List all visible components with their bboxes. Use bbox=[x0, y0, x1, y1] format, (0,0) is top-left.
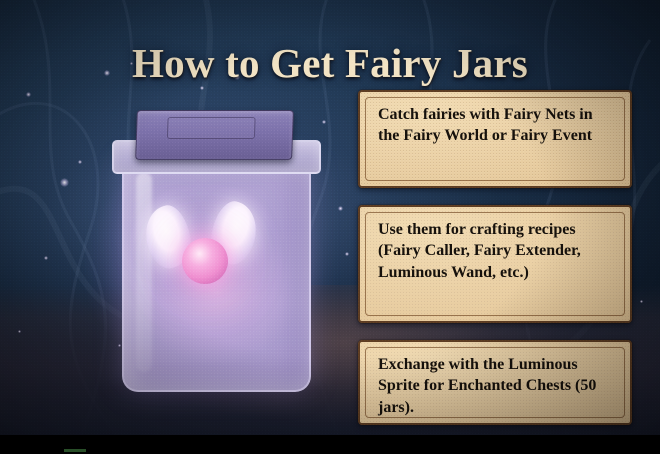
info-panel-crafting-recipes: Use them for crafting recipes (Fairy Cal… bbox=[358, 205, 632, 323]
fairy-orb bbox=[182, 238, 228, 284]
bottom-green-indicator bbox=[64, 449, 86, 452]
bottom-letterbox-bar bbox=[0, 435, 660, 454]
fairy-jar-illustration bbox=[78, 98, 328, 398]
info-panel-text: Exchange with the Luminous Sprite for En… bbox=[370, 351, 620, 418]
info-panel-text: Use them for crafting recipes (Fairy Cal… bbox=[370, 216, 620, 283]
info-panel-catch-fairies: Catch fairies with Fairy Nets in the Fai… bbox=[358, 90, 632, 188]
jar-lid-detail bbox=[167, 117, 256, 139]
page-title: How to Get Fairy Jars bbox=[0, 41, 660, 86]
fairy-jar-infographic: How to Get Fairy Jars Catch fairies with… bbox=[0, 0, 660, 454]
info-panel-text: Catch fairies with Fairy Nets in the Fai… bbox=[370, 101, 620, 147]
jar-lid bbox=[135, 110, 294, 160]
jar-glass-highlight bbox=[136, 172, 152, 372]
info-panel-exchange-sprite: Exchange with the Luminous Sprite for En… bbox=[358, 340, 632, 425]
